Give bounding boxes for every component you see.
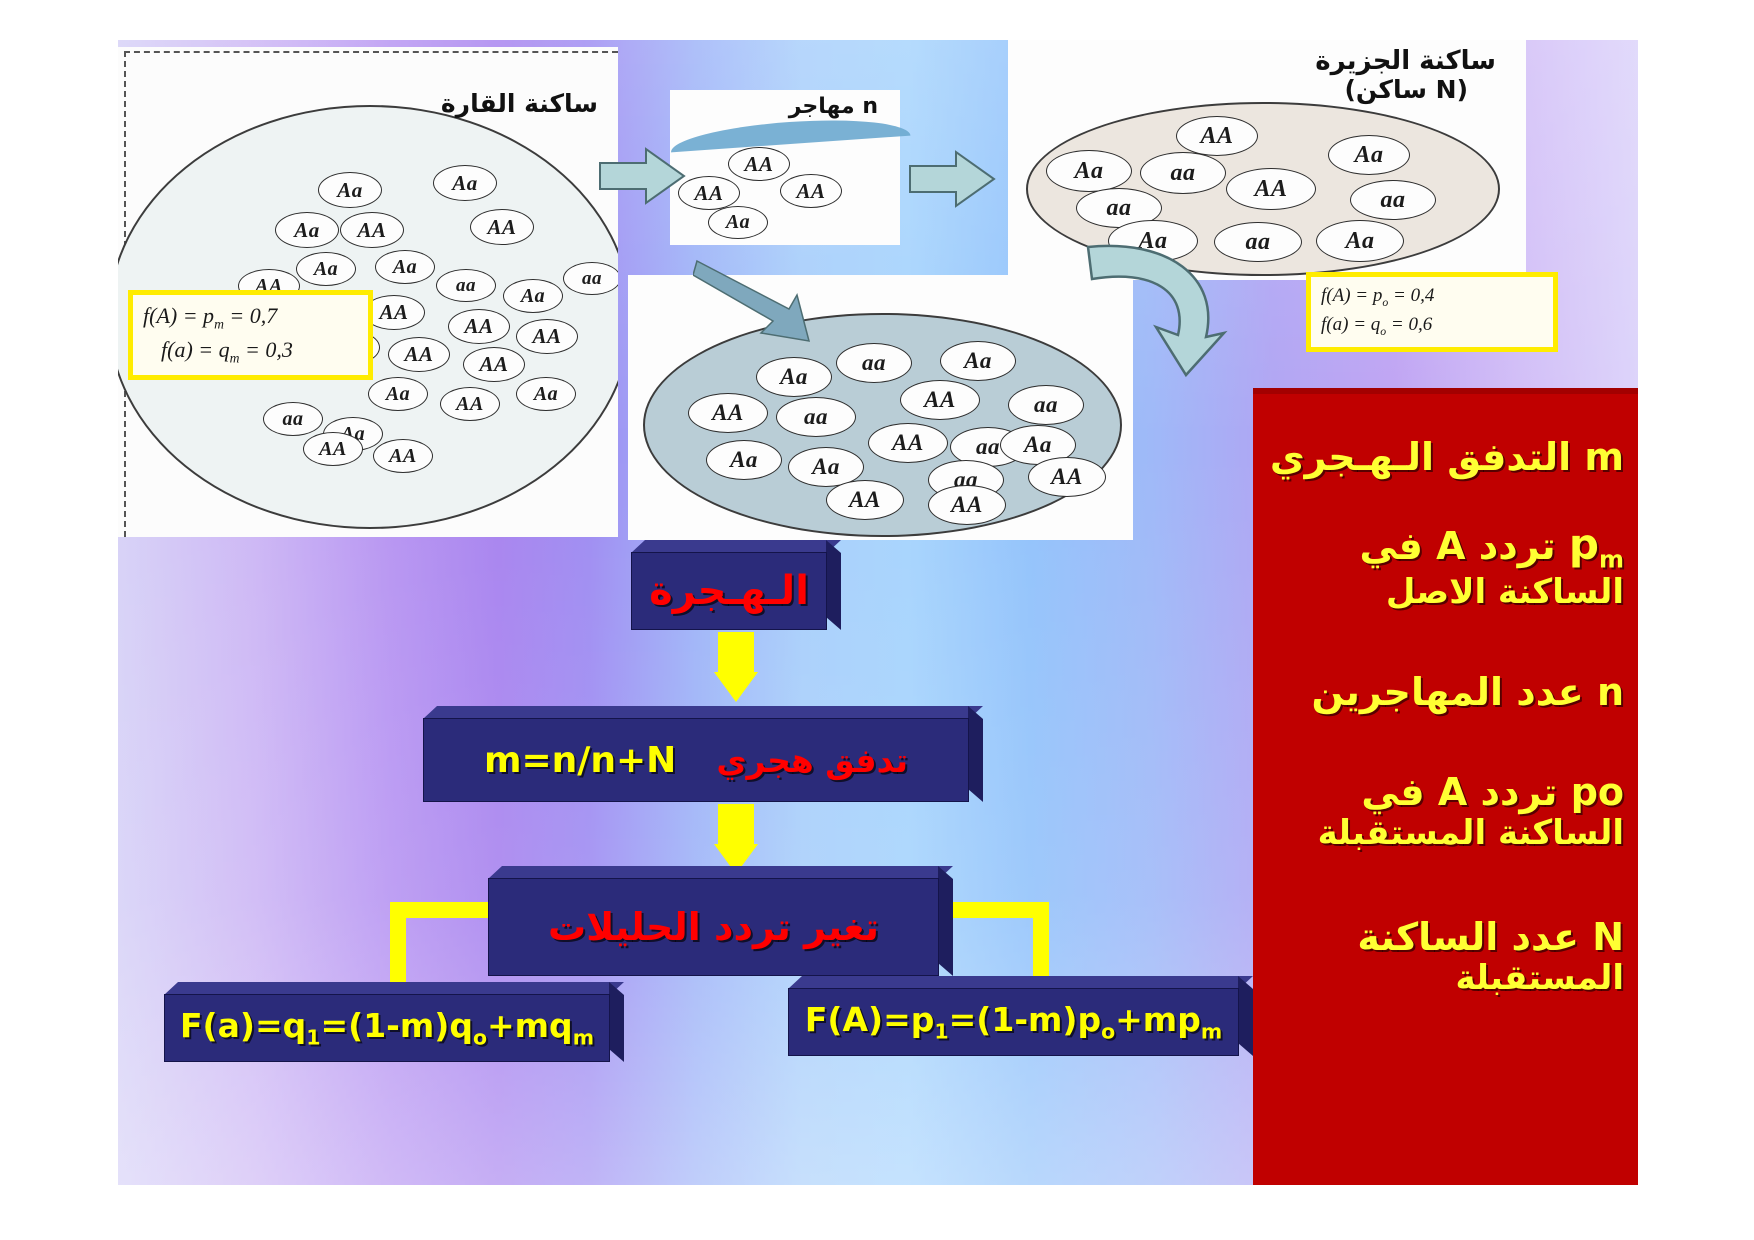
- genotype-oval: Aa: [375, 250, 435, 284]
- migration-arrow-curved-down: [1078, 235, 1228, 380]
- flow-box-flux-label: تدفق هجري: [716, 741, 908, 780]
- genotype-oval: Aa: [1316, 220, 1404, 262]
- genotype-oval: AA: [373, 439, 433, 473]
- genotype-oval: aa: [1008, 385, 1084, 425]
- legend-panel: m التدفق الـهـجري pm تردد A في الساكنة ا…: [1253, 388, 1638, 1185]
- legend-po-line2: الساكنة المستقبلة: [1261, 814, 1624, 852]
- genotype-oval: Aa: [706, 440, 782, 480]
- genotype-oval: AA: [440, 387, 500, 421]
- sea-wave-graphic: [670, 114, 911, 153]
- genotype-oval: AA: [388, 337, 450, 372]
- migration-arrow-into-mixed: [693, 255, 833, 345]
- flow-arrow-1-head: [714, 672, 758, 702]
- legend-pm-subscript: m: [1599, 546, 1624, 574]
- continent-frequency-box: f(A) = pm = 0,7 f(a) = qm = 0,3: [128, 290, 373, 380]
- genotype-oval: AA: [340, 212, 404, 248]
- flow-box-migration[interactable]: الـهـجرة: [631, 540, 841, 630]
- genotype-oval: AA: [516, 319, 578, 354]
- flow-box-flux-formula: m=n/n+N: [484, 740, 676, 781]
- migrants-panel: n مهاجر AA AA AA Aa: [670, 90, 900, 245]
- genotype-oval: AA: [1028, 457, 1106, 497]
- genotype-oval: AA: [928, 485, 1006, 525]
- slide-canvas: ساكنة القارة Aa Aa Aa AA AA Aa Aa AA aa …: [118, 40, 1638, 1185]
- genotype-oval: AA: [470, 209, 534, 245]
- genotype-oval: AA: [1226, 168, 1316, 210]
- legend-item-po: po تردد A في الساكنة المستقبلة: [1253, 771, 1638, 852]
- genotype-oval: AA: [688, 393, 768, 433]
- island-label-line2: (N ساكن): [1344, 75, 1468, 104]
- genotype-oval: Aa: [368, 377, 428, 411]
- legend-item-m: m التدفق الـهـجري: [1253, 436, 1638, 479]
- genotype-oval: Aa: [296, 252, 356, 286]
- genotype-oval: Aa: [433, 165, 497, 201]
- flow-box-flux[interactable]: m=n/n+N تدفق هجري: [423, 706, 983, 802]
- flow-box-change[interactable]: تغير تردد الحليلات: [488, 866, 953, 976]
- box-front-face: الـهـجرة: [631, 552, 827, 630]
- legend-N-line2: المستقبلة: [1261, 959, 1624, 997]
- continent-freq-line-2: f(a) = qm = 0,3: [143, 334, 358, 368]
- flow-box-fa-formula: F(a)=q1=(1-m)qo+mqm: [180, 1006, 594, 1050]
- genotype-oval: aa: [836, 343, 912, 383]
- genotype-oval: AA: [463, 347, 525, 382]
- genotype-oval: Aa: [318, 172, 382, 208]
- legend-item-pm: pm تردد A في الساكنة الاصل: [1253, 521, 1638, 612]
- box-side-face: [968, 706, 983, 802]
- legend-pm-text: تردد A في: [1360, 524, 1556, 568]
- genotype-oval: AA: [868, 423, 948, 463]
- migrants-label: n مهاجر: [789, 94, 878, 119]
- genotype-oval: AA: [303, 432, 363, 466]
- legend-N-line1: N عدد الساكنة: [1261, 916, 1624, 959]
- genotype-oval: aa: [1350, 180, 1436, 220]
- island-freq-line-1: f(A) = po = 0,4: [1321, 282, 1543, 311]
- island-freq-line-2: f(a) = qo = 0,6: [1321, 311, 1543, 340]
- genotype-oval: aa: [776, 397, 856, 437]
- continent-freq-line-1: f(A) = pm = 0,7: [143, 300, 358, 334]
- legend-po-line1: po تردد A في: [1261, 771, 1624, 814]
- genotype-oval: Aa: [1328, 135, 1410, 175]
- genotype-oval: Aa: [503, 279, 563, 313]
- box-side-face: [826, 540, 841, 630]
- genotype-oval: Aa: [756, 357, 832, 397]
- flow-arrow-1-shaft: [718, 632, 754, 674]
- genotype-oval: Aa: [516, 377, 576, 411]
- legend-item-n: n عدد المهاجرين: [1253, 671, 1638, 714]
- genotype-oval: AA: [1176, 116, 1258, 156]
- genotype-oval: Aa: [940, 341, 1016, 381]
- flow-box-fA[interactable]: F(A)=p1=(1-m)po+mpm: [788, 976, 1253, 1056]
- box-side-face: [938, 866, 953, 976]
- island-frequency-box: f(A) = po = 0,4 f(a) = qo = 0,6: [1306, 272, 1558, 352]
- genotype-oval: aa: [563, 262, 618, 295]
- continent-population-panel: ساكنة القارة Aa Aa Aa AA AA Aa Aa AA aa …: [118, 47, 618, 537]
- box-front-face: F(a)=q1=(1-m)qo+mqm: [164, 994, 610, 1062]
- genotype-oval: AA: [780, 174, 842, 208]
- flow-box-change-label: تغير تردد الحليلات: [548, 905, 879, 949]
- dashed-border-top: [124, 51, 618, 53]
- genotype-oval: AA: [826, 480, 904, 520]
- flow-box-fa[interactable]: F(a)=q1=(1-m)qo+mqm: [164, 982, 624, 1062]
- island-label-line1: ساكنة الجزيرة: [1315, 46, 1496, 76]
- flow-box-fA-formula: F(A)=p1=(1-m)po+mpm: [805, 1000, 1222, 1044]
- genotype-oval: Aa: [1046, 150, 1132, 192]
- flow-arrow-2-shaft: [718, 804, 754, 846]
- migration-arrow-right-2: [908, 148, 998, 210]
- genotype-oval: AA: [900, 380, 980, 420]
- genotype-oval: aa: [263, 402, 323, 436]
- genotype-oval: aa: [436, 269, 496, 302]
- box-side-face: [609, 982, 624, 1062]
- box-front-face: تغير تردد الحليلات: [488, 878, 939, 976]
- genotype-oval: aa: [1140, 152, 1226, 194]
- genotype-oval: AA: [448, 309, 510, 344]
- legend-pm-symbol: p: [1569, 520, 1599, 569]
- migration-arrow-right-1: [598, 145, 688, 207]
- legend-pm-text2: الساكنة الاصل: [1261, 573, 1624, 611]
- genotype-oval: AA: [728, 147, 790, 181]
- genotype-oval: Aa: [275, 212, 339, 248]
- box-side-face: [1238, 976, 1253, 1056]
- flow-box-migration-label: الـهـجرة: [649, 568, 809, 614]
- genotype-oval: Aa: [708, 206, 768, 239]
- box-front-face: m=n/n+N تدفق هجري: [423, 718, 969, 802]
- continent-label: ساكنة القارة: [441, 89, 598, 118]
- box-front-face: F(A)=p1=(1-m)po+mpm: [788, 988, 1239, 1056]
- legend-item-N: N عدد الساكنة المستقبلة: [1253, 916, 1638, 997]
